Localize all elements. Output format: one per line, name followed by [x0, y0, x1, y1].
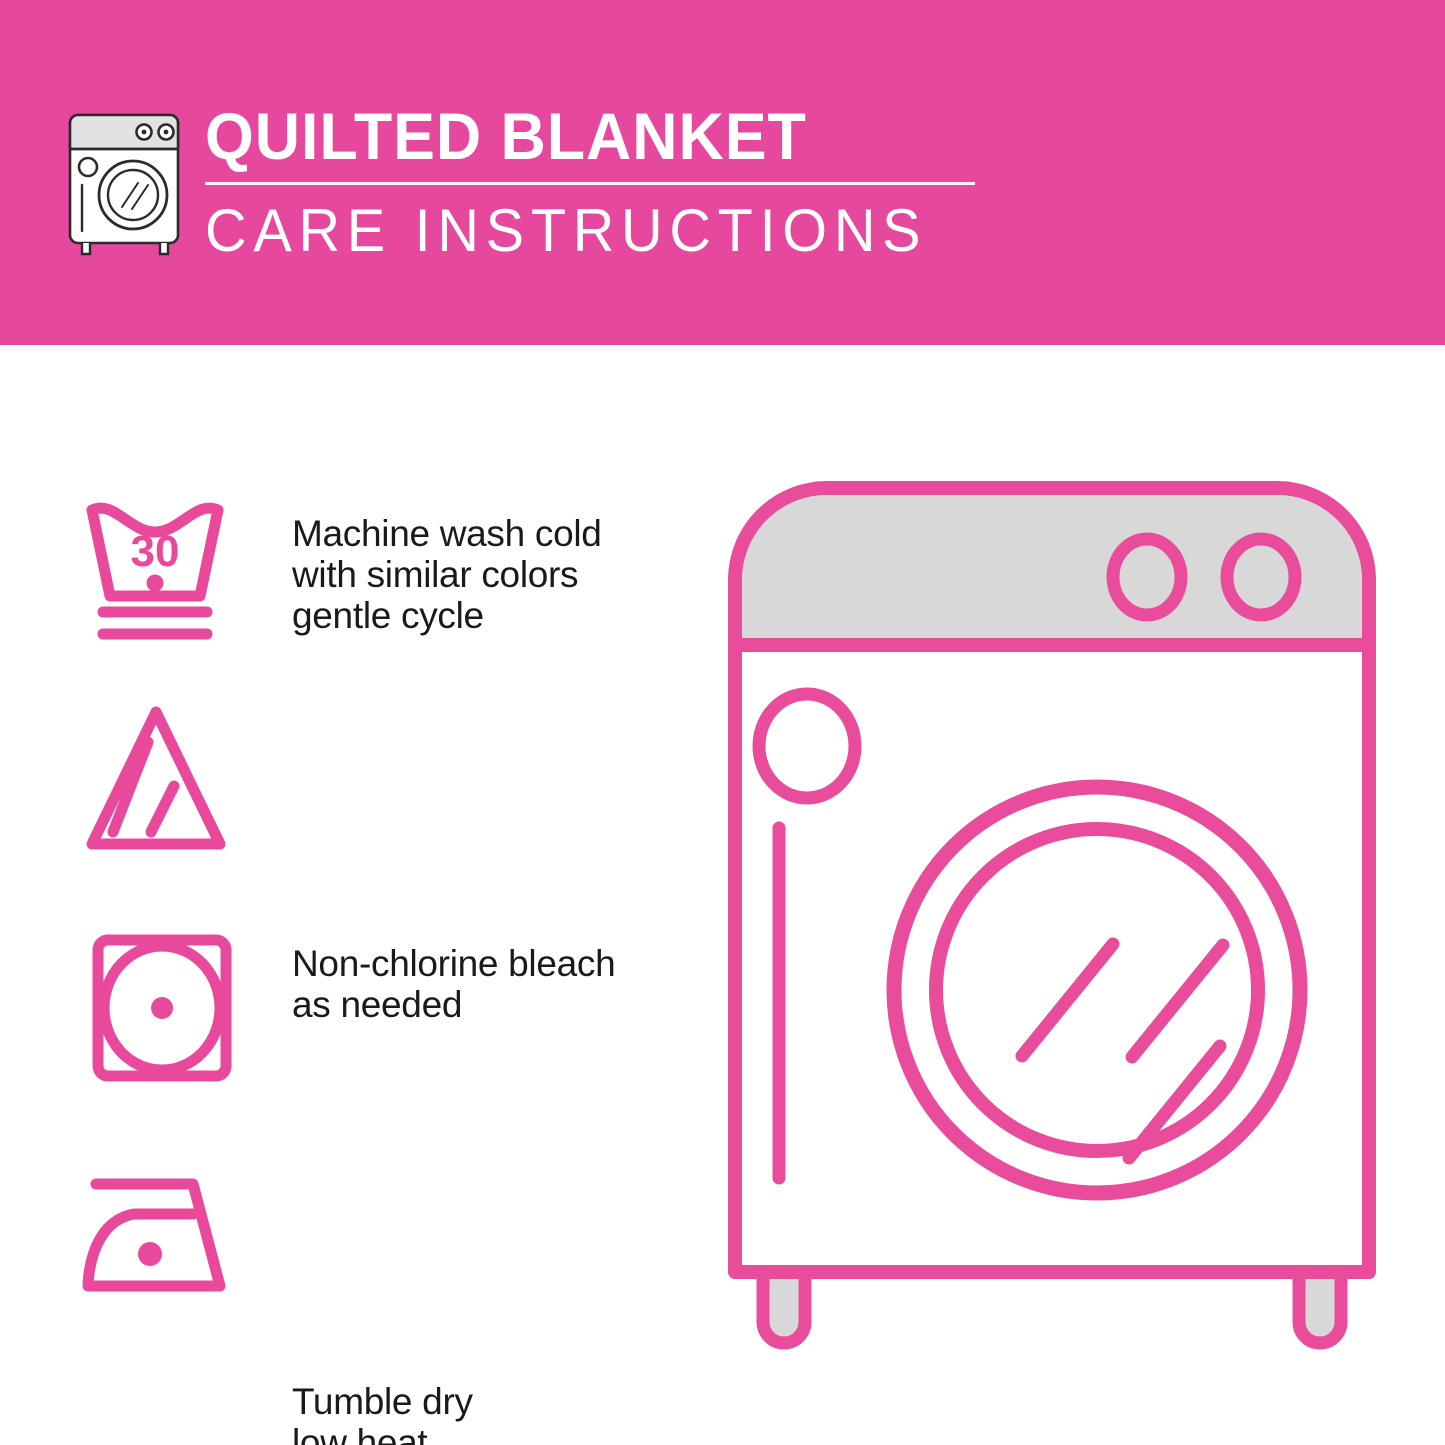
knob-left[interactable] [1113, 539, 1181, 615]
care-row-wash: Machine wash cold with similar colors ge… [70, 480, 690, 688]
care-line: with similar colors [292, 554, 692, 595]
knob-right[interactable] [1227, 539, 1295, 615]
header-text-block: QUILTED BLANKET CARE INSTRUCTIONS [205, 100, 995, 263]
page-title: QUILTED BLANKET [205, 100, 956, 172]
front-load-washing-machine-illustration [715, 470, 1405, 1370]
drum-door-inner [936, 829, 1258, 1151]
care-row-bleach: Non-chlorine bleach as needed [70, 688, 690, 896]
care-instructions-infographic: QUILTED BLANKET CARE INSTRUCTIONS 30 [0, 0, 1445, 1445]
washing-machine-icon [60, 103, 190, 258]
detergent-port[interactable] [759, 694, 855, 798]
care-line: gentle cycle [292, 595, 692, 636]
page-subtitle: CARE INSTRUCTIONS [205, 199, 963, 263]
title-divider [205, 182, 975, 185]
care-row-dry: Tumble dry low heat [70, 896, 690, 1104]
care-row-iron: Iron if needed low heat [70, 1104, 690, 1312]
header-banner: QUILTED BLANKET CARE INSTRUCTIONS [0, 0, 1445, 345]
care-text-dry: Tumble dry low heat [292, 1381, 692, 1445]
care-line: Machine wash cold [292, 513, 692, 554]
care-line: low heat [292, 1422, 692, 1445]
care-text-wash: Machine wash cold with similar colors ge… [292, 513, 692, 636]
care-symbol-list: 30 M [70, 480, 690, 1312]
care-line: Tumble dry [292, 1381, 692, 1422]
